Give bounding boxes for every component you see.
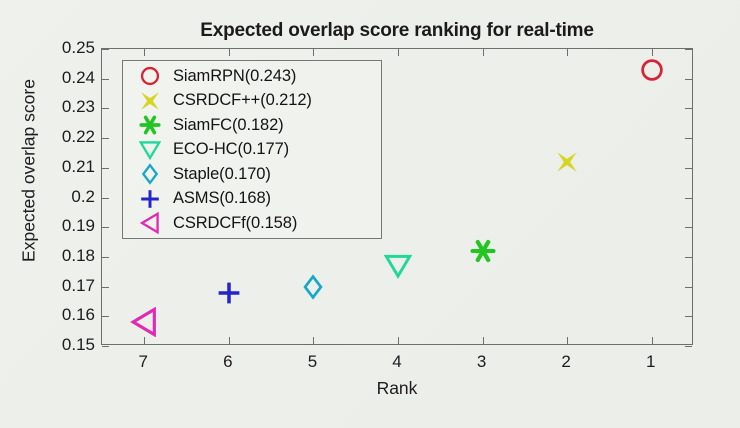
- data-point-csrdcf-: [550, 145, 584, 179]
- legend-item-asms[interactable]: ASMS(0.168): [123, 187, 381, 212]
- data-point-csrdcff: [127, 305, 161, 339]
- x-axis-title: Rank: [101, 378, 693, 399]
- x-axis-tick: [652, 337, 653, 344]
- legend-item-label: ASMS(0.168): [173, 189, 271, 208]
- legend-item-csrdcf-[interactable]: CSRDCF++(0.212): [123, 89, 381, 114]
- y-axis-tick-right: [685, 168, 692, 169]
- x-axis-tick-top: [313, 49, 314, 56]
- y-tick-label: 0.18: [62, 246, 95, 266]
- x-axis-tick-top: [567, 49, 568, 56]
- x-axis-tick: [144, 337, 145, 344]
- asterisk-marker-icon: [127, 113, 173, 137]
- y-tick-label: 0.15: [62, 335, 95, 355]
- x-tick-label: 5: [308, 352, 317, 372]
- y-axis-tick-right: [685, 198, 692, 199]
- y-tick-label: 0.16: [62, 305, 95, 325]
- y-tick-label: 0.19: [62, 216, 95, 236]
- y-axis-tick-right: [685, 49, 692, 50]
- y-axis-tick: [102, 316, 109, 317]
- y-axis-tick-right: [685, 138, 692, 139]
- x-axis-tick: [313, 337, 314, 344]
- x-tick-label: 7: [139, 352, 148, 372]
- y-tick-label: 0.22: [62, 127, 95, 147]
- y-axis-tick-right: [685, 316, 692, 317]
- y-axis-tick-right: [685, 108, 692, 109]
- y-axis-tick: [102, 257, 109, 258]
- y-tick-label: 0.17: [62, 276, 95, 296]
- y-axis-tick-right: [685, 257, 692, 258]
- x-axis-tick-top: [483, 49, 484, 56]
- cross-x-marker-icon: [127, 89, 173, 113]
- data-point-siamfc: [466, 234, 500, 268]
- x-tick-label: 2: [561, 352, 570, 372]
- y-axis-tick-right: [685, 287, 692, 288]
- x-tick-label: 4: [392, 352, 401, 372]
- legend-item-label: ECO-HC(0.177): [173, 140, 289, 159]
- y-axis-tick: [102, 138, 109, 139]
- diamond-marker-icon: [127, 162, 173, 186]
- circle-marker-icon: [127, 64, 173, 88]
- x-axis-tick-top: [229, 49, 230, 56]
- figure-canvas: Expected overlap score ranking for real-…: [0, 0, 740, 428]
- x-axis-tick-top: [652, 49, 653, 56]
- plus-marker-icon: [127, 187, 173, 211]
- y-axis-tick: [102, 108, 109, 109]
- data-point-siamrpn: [635, 53, 669, 87]
- legend-item-label: CSRDCF++(0.212): [173, 91, 312, 110]
- y-tick-label: 0.23: [62, 97, 95, 117]
- data-point-staple: [296, 270, 330, 304]
- y-tick-label: 0.25: [62, 38, 95, 58]
- x-tick-label: 3: [477, 352, 486, 372]
- chart-title: Expected overlap score ranking for real-…: [101, 20, 693, 42]
- y-tick-label: 0.24: [62, 68, 95, 88]
- legend-item-staple[interactable]: Staple(0.170): [123, 162, 381, 187]
- y-axis-tick-right: [685, 79, 692, 80]
- x-axis-tick: [567, 337, 568, 344]
- legend-item-label: SiamFC(0.182): [173, 116, 284, 135]
- y-tick-label: 0.2: [71, 187, 95, 207]
- x-tick-label: 1: [646, 352, 655, 372]
- y-axis-tick: [102, 346, 109, 347]
- x-axis-tick-top: [144, 49, 145, 56]
- x-axis-tick-top: [398, 49, 399, 56]
- y-tick-label-group: 0.150.160.170.180.190.20.210.220.230.240…: [33, 48, 95, 345]
- legend-item-siamrpn[interactable]: SiamRPN(0.243): [123, 64, 381, 89]
- x-tick-label-group: 7654321: [101, 352, 693, 376]
- y-axis-tick: [102, 227, 109, 228]
- data-point-eco-hc: [381, 249, 415, 283]
- y-axis-tick-right: [685, 227, 692, 228]
- x-axis-tick: [483, 337, 484, 344]
- legend-item-csrdcff[interactable]: CSRDCFf(0.158): [123, 211, 381, 236]
- chart-legend: SiamRPN(0.243)CSRDCF++(0.212)SiamFC(0.18…: [122, 60, 382, 239]
- y-axis-tick: [102, 79, 109, 80]
- triangle-down-marker-icon: [127, 138, 173, 162]
- y-axis-tick: [102, 49, 109, 50]
- x-axis-tick: [398, 337, 399, 344]
- legend-item-label: Staple(0.170): [173, 165, 271, 184]
- x-tick-label: 6: [223, 352, 232, 372]
- y-axis-tick: [102, 198, 109, 199]
- y-axis-tick: [102, 168, 109, 169]
- legend-item-siamfc[interactable]: SiamFC(0.182): [123, 113, 381, 138]
- triangle-left-marker-icon: [127, 211, 173, 235]
- data-point-asms: [212, 276, 246, 310]
- y-tick-label: 0.21: [62, 157, 95, 177]
- legend-item-label: CSRDCFf(0.158): [173, 214, 297, 233]
- legend-item-label: SiamRPN(0.243): [173, 67, 296, 86]
- legend-item-eco-hc[interactable]: ECO-HC(0.177): [123, 138, 381, 163]
- y-axis-tick: [102, 287, 109, 288]
- x-axis-tick: [229, 337, 230, 344]
- y-axis-tick-right: [685, 346, 692, 347]
